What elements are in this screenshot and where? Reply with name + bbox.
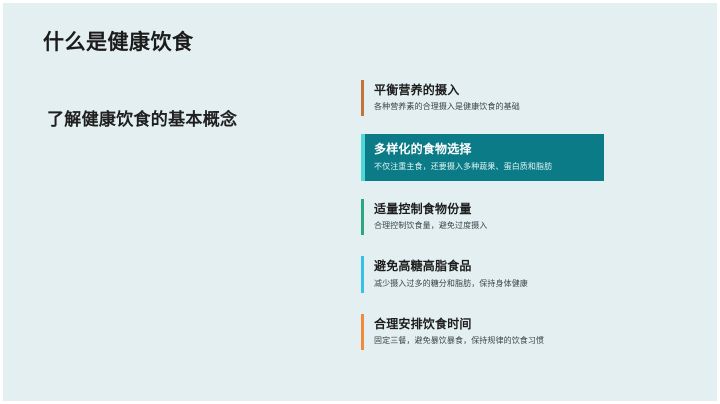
list-item-portion-control[interactable]: 适量控制食物份量 合理控制饮食量，避免过度摄入 bbox=[361, 196, 611, 238]
list-item-avoid-sugar-fat[interactable]: 避免高糖高脂食品 减少摄入过多的糖分和脂肪，保持身体健康 bbox=[361, 253, 611, 295]
accent-bar-icon bbox=[361, 314, 364, 350]
page-title: 什么是健康饮食 bbox=[43, 29, 343, 56]
list-item-title: 适量控制食物份量 bbox=[374, 201, 611, 218]
list-item-description: 合理控制饮食量，避免过度摄入 bbox=[374, 220, 611, 232]
list-item-title: 合理安排饮食时间 bbox=[374, 316, 611, 333]
list-item-description: 不仅注重主食，还要摄入多种蔬果、蛋白质和脂肪 bbox=[374, 161, 604, 173]
list-item-food-variety[interactable]: 多样化的食物选择 不仅注重主食，还要摄入多种蔬果、蛋白质和脂肪 bbox=[361, 134, 604, 180]
slide-heading-group: 什么是健康饮食 bbox=[43, 29, 343, 56]
accent-bar-icon bbox=[361, 256, 364, 292]
accent-bar-icon bbox=[361, 199, 364, 235]
list-item-meal-timing[interactable]: 合理安排饮食时间 固定三餐，避免暴饮暴食，保持规律的饮食习惯 bbox=[361, 311, 611, 353]
accent-bar-icon bbox=[361, 80, 364, 116]
list-item-title: 多样化的食物选择 bbox=[374, 141, 604, 158]
list-item-title: 避免高糖高脂食品 bbox=[374, 258, 611, 275]
list-item-description: 减少摄入过多的糖分和脂肪，保持身体健康 bbox=[374, 278, 611, 290]
list-item-description: 固定三餐，避免暴饮暴食，保持规律的饮食习惯 bbox=[374, 335, 611, 347]
slide-subtitle: 了解健康饮食的基本概念 bbox=[47, 109, 237, 131]
accent-bar-icon bbox=[361, 134, 365, 180]
list-item-description: 各种营养素的合理摄入是健康饮食的基础 bbox=[374, 101, 611, 113]
list-item-title: 平衡营养的摄入 bbox=[374, 82, 611, 99]
list-item-balanced-nutrition[interactable]: 平衡营养的摄入 各种营养素的合理摄入是健康饮食的基础 bbox=[361, 77, 611, 119]
slide-canvas: 什么是健康饮食 了解健康饮食的基本概念 平衡营养的摄入 各种营养素的合理摄入是健… bbox=[3, 3, 717, 401]
key-points-list: 平衡营养的摄入 各种营养素的合理摄入是健康饮食的基础 多样化的食物选择 不仅注重… bbox=[361, 77, 611, 353]
